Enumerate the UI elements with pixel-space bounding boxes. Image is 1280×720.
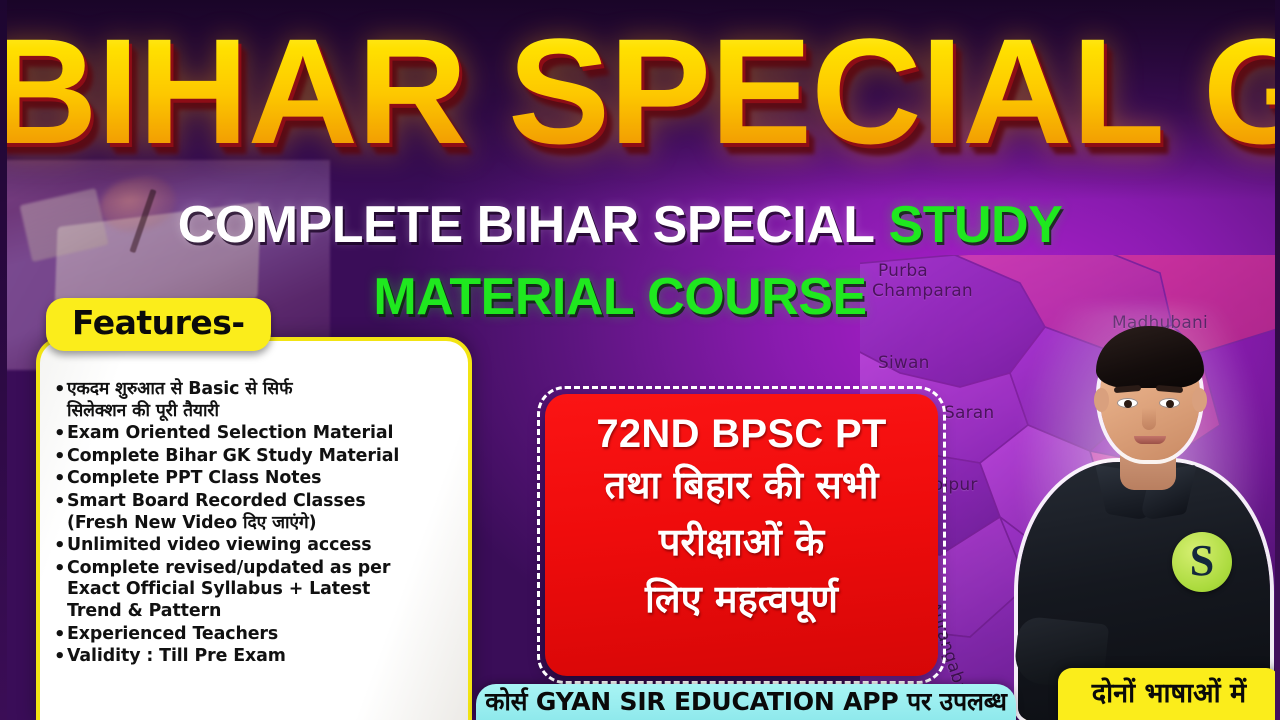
right-edge-strip <box>1275 0 1280 720</box>
features-tab: Features- <box>46 298 271 351</box>
left-edge-strip <box>0 0 7 720</box>
bullet-icon: • <box>54 379 67 401</box>
list-item: • Smart Board Recorded Classes (Fresh Ne… <box>54 491 466 534</box>
map-label: Siwan <box>878 353 930 373</box>
bullet-icon: • <box>54 624 67 646</box>
bullet-icon: • <box>54 535 67 557</box>
subtitle-green-material-course: MATERIAL COURSE <box>373 268 866 326</box>
subtitle-line-1: COMPLETE BIHAR SPECIAL STUDY <box>0 196 1240 254</box>
features-tab-label: Features- <box>72 304 245 342</box>
list-item: • Validity : Till Pre Exam <box>54 646 466 668</box>
feature-text: Unlimited video viewing access <box>67 535 466 557</box>
presenter-photo: S <box>996 300 1280 720</box>
presenter-ear-left <box>1094 388 1109 412</box>
brand-logo-icon: S <box>1172 532 1232 592</box>
feature-text: Validity : Till Pre Exam <box>67 646 466 668</box>
languages-badge: दोनों भाषाओं में <box>1058 668 1280 720</box>
bullet-icon: • <box>54 423 67 445</box>
exam-callout-content: 72ND BPSC PT तथा बिहार की सभी परीक्षाओं … <box>545 394 938 676</box>
poster-canvas: Purba Champaran Madhubani Siwan Saran Bh… <box>0 0 1280 720</box>
bullet-icon: • <box>54 446 67 468</box>
features-list: • एकदम शुरुआत से Basic से सिर्फ सिलेक्शन… <box>40 379 472 669</box>
bullet-icon: • <box>54 491 67 513</box>
list-item: • Complete PPT Class Notes <box>54 468 466 490</box>
presenter-pupil-right <box>1166 400 1174 408</box>
presenter-mouth <box>1134 436 1166 444</box>
callout-line-2: तथा बिहार की सभी <box>605 457 879 514</box>
subtitle-white-text: COMPLETE BIHAR SPECIAL <box>178 196 875 254</box>
bullet-icon: • <box>54 558 67 580</box>
list-item: • Exam Oriented Selection Material <box>54 423 466 445</box>
app-availability-banner: कोर्स GYAN SIR EDUCATION APP पर उपलब्ध <box>476 684 1016 720</box>
feature-text: Exam Oriented Selection Material <box>67 423 466 445</box>
callout-line-1: 72ND BPSC PT <box>596 411 886 457</box>
feature-text: एकदम शुरुआत से Basic से सिर्फ सिलेक्शन क… <box>67 379 466 422</box>
presenter-nose <box>1142 408 1156 430</box>
app-availability-text: कोर्स GYAN SIR EDUCATION APP पर उपलब्ध <box>485 687 1007 717</box>
feature-text: Complete revised/updated as per Exact Of… <box>67 558 466 623</box>
presenter-pupil-left <box>1124 400 1132 408</box>
features-card: • एकदम शुरुआत से Basic से सिर्फ सिलेक्शन… <box>36 337 472 720</box>
callout-line-4: लिए महत्वपूर्ण <box>645 571 838 628</box>
feature-text: Complete PPT Class Notes <box>67 468 466 490</box>
bullet-icon: • <box>54 646 67 668</box>
map-label: Saran <box>944 403 994 423</box>
list-item: • एकदम शुरुआत से Basic से सिर्फ सिलेक्शन… <box>54 379 466 422</box>
list-item: • Experienced Teachers <box>54 624 466 646</box>
list-item: • Complete revised/updated as per Exact … <box>54 558 466 623</box>
page-title: BIHAR SPECIAL GK <box>0 16 1280 166</box>
list-item: • Unlimited video viewing access <box>54 535 466 557</box>
feature-text: Complete Bihar GK Study Material <box>67 446 466 468</box>
subtitle-green-study: STUDY <box>889 196 1063 254</box>
exam-callout-box: 72ND BPSC PT तथा बिहार की सभी परीक्षाओं … <box>545 394 938 676</box>
bullet-icon: • <box>54 468 67 490</box>
callout-line-3: परीक्षाओं के <box>659 514 824 571</box>
languages-badge-text: दोनों भाषाओं में <box>1092 677 1246 711</box>
feature-text: Experienced Teachers <box>67 624 466 646</box>
presenter-ear-right <box>1192 388 1207 412</box>
list-item: • Complete Bihar GK Study Material <box>54 446 466 468</box>
feature-text: Smart Board Recorded Classes (Fresh New … <box>67 491 466 534</box>
brand-logo-letter: S <box>1190 539 1214 583</box>
